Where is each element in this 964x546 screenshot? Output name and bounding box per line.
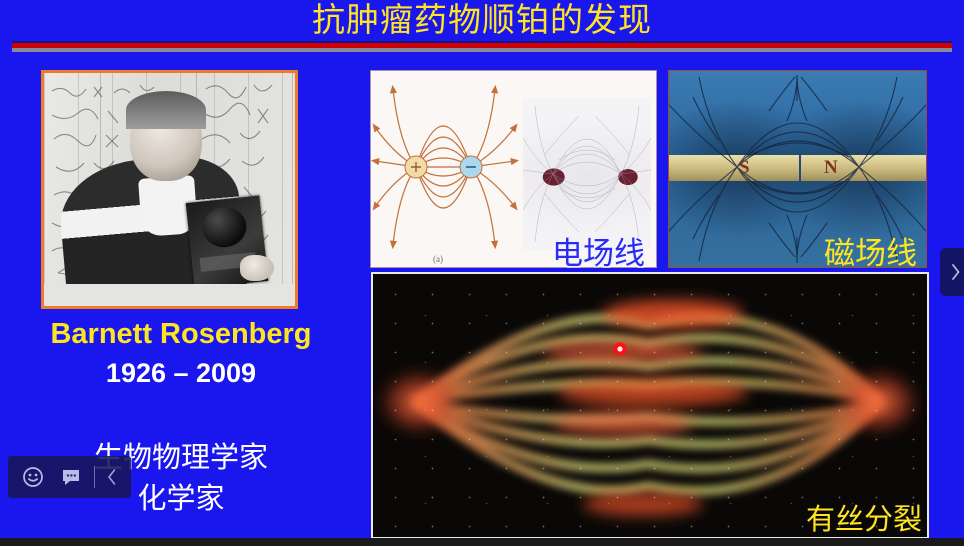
toolbar-collapse-button[interactable] [99, 458, 125, 496]
person-name: Barnett Rosenberg [0, 318, 362, 351]
smiley-face-icon [22, 466, 44, 488]
divider-grey-line [12, 48, 952, 52]
page-title: 抗肿瘤药物顺铂的发现 [0, 0, 964, 42]
desk-edge [44, 284, 295, 306]
panel-expand-button[interactable] [940, 248, 964, 296]
reaction-button[interactable] [14, 458, 52, 496]
magnet-pole-north: N [824, 157, 838, 179]
person-hair [126, 91, 206, 129]
mitosis-caption: 有丝分裂 [806, 496, 922, 538]
slide-canvas: 抗肿瘤药物顺铂的发现 [0, 0, 964, 538]
person-years: 1926 – 2009 [0, 358, 362, 389]
presentation-screen: 抗肿瘤药物顺铂的发现 [0, 0, 964, 546]
laser-pointer-dot [613, 342, 627, 356]
chat-button[interactable] [52, 458, 90, 496]
chevron-right-icon [949, 262, 962, 282]
person-hand [240, 255, 274, 281]
toolbar-divider [94, 466, 95, 488]
title-divider [12, 41, 952, 52]
magnet-pole-south: S [739, 157, 750, 179]
chat-bubble-icon [60, 466, 82, 488]
electric-dipole-diagram [371, 71, 521, 267]
figure-sublabel: (a) [433, 254, 443, 264]
screen-letterbox [0, 538, 964, 546]
meeting-toolbar[interactable] [8, 456, 131, 498]
magnetic-field-caption: 磁场线 [824, 228, 917, 273]
electric-field-caption: 电场线 [552, 228, 645, 273]
chevron-left-icon [106, 468, 118, 486]
portrait-photo [41, 70, 298, 309]
